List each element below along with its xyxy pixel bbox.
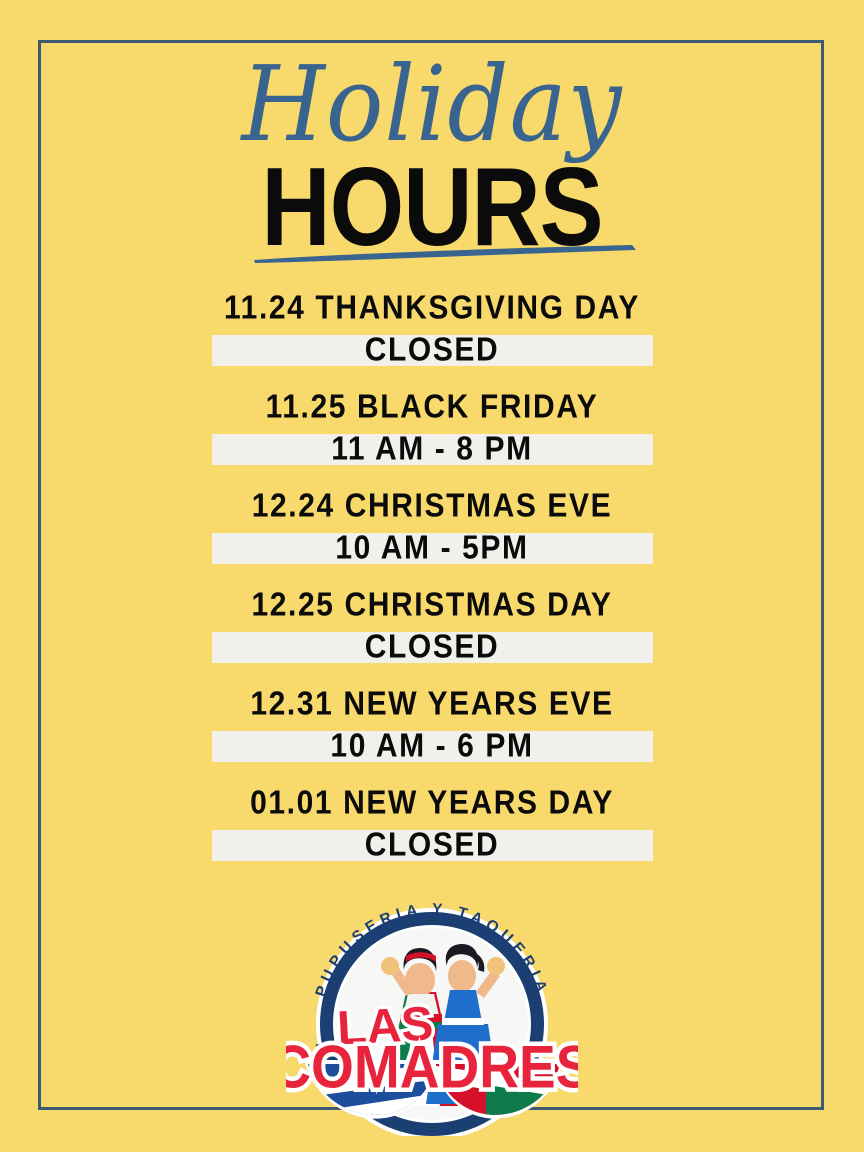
logo-name-line2: COMADRES <box>286 1034 578 1101</box>
hours-row-time: 10 AM - 6 PM <box>0 724 864 769</box>
hours-row-date: 11.24 THANKSGIVING DAY <box>0 286 864 331</box>
hours-row-date: 11.25 BLACK FRIDAY <box>0 385 864 430</box>
hours-row-time: CLOSED <box>0 625 864 670</box>
script-heading: Holiday <box>35 52 830 156</box>
hours-row-time: CLOSED <box>0 328 864 373</box>
hours-row: 12.31 NEW YEARS EVE 10 AM - 6 PM <box>0 682 864 781</box>
hours-row-date: 12.25 CHRISTMAS DAY <box>0 583 864 628</box>
hours-row: 12.25 CHRISTMAS DAY CLOSED <box>0 583 864 682</box>
hours-row-date: 12.31 NEW YEARS EVE <box>0 682 864 727</box>
hours-row-time: CLOSED <box>0 823 864 868</box>
hours-row: 01.01 NEW YEARS DAY CLOSED <box>0 781 864 880</box>
holiday-hours-poster: Holiday HOURS 11.24 THANKSGIVING DAY CLO… <box>0 0 864 1152</box>
hours-row-date: 01.01 NEW YEARS DAY <box>0 781 864 826</box>
holiday-hours-list: 11.24 THANKSGIVING DAY CLOSED 11.25 BLAC… <box>0 286 864 880</box>
poster-header: Holiday HOURS <box>0 0 864 280</box>
hours-row-time: 10 AM - 5PM <box>0 526 864 571</box>
brand-logo: PUPUSERIA Y TAQUERIA <box>286 896 578 1136</box>
hours-row-time: 11 AM - 8 PM <box>0 427 864 472</box>
page-title: HOURS <box>0 152 864 263</box>
hours-row: 11.25 BLACK FRIDAY 11 AM - 8 PM <box>0 385 864 484</box>
hours-row: 12.24 CHRISTMAS EVE 10 AM - 5PM <box>0 484 864 583</box>
hours-row: 11.24 THANKSGIVING DAY CLOSED <box>0 286 864 385</box>
hours-row-date: 12.24 CHRISTMAS EVE <box>0 484 864 529</box>
